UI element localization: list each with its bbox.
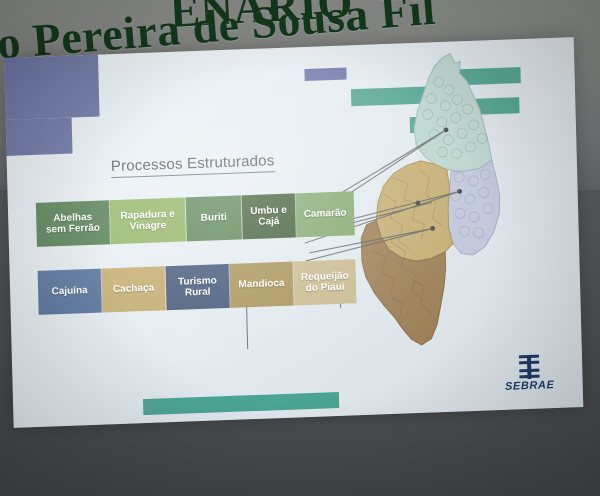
process-chip: Abelhas sem Ferrão: [36, 200, 111, 247]
sebrae-mark-icon: [516, 354, 543, 379]
projected-slide-area: Processos Estruturados Abelhas sem Ferrã…: [4, 37, 594, 446]
presentation-slide: Processos Estruturados Abelhas sem Ferrã…: [4, 37, 583, 428]
process-chip: Cajuína: [38, 269, 103, 315]
process-chip: Cachaça: [102, 266, 167, 312]
sebrae-logo: SEBRAE: [498, 354, 561, 390]
process-chip: Requeijão do Piauí: [293, 259, 356, 305]
slide-title: Processos Estruturados: [111, 152, 275, 178]
decoration-block-teal-bottom: [143, 392, 339, 415]
process-row-blue-tan: CajuínaCachaçaTurismo RuralMandiocaReque…: [38, 259, 357, 315]
process-chip: Buriti: [186, 195, 243, 241]
map-piaui: [356, 48, 555, 385]
process-chip: Mandioca: [229, 262, 294, 308]
decoration-block-blue-large: [4, 55, 100, 121]
sebrae-wordmark: SEBRAE: [499, 379, 561, 393]
decoration-block-blue-step: [4, 118, 73, 157]
process-chip-label: Abelhas sem Ferrão: [42, 211, 104, 236]
process-chip-label: Cajuína: [51, 285, 87, 298]
photo-scene: ENÁRIO io Pereira de Sousa Fil: [0, 0, 600, 496]
process-chip-label: Umbu e Cajá: [248, 204, 290, 228]
process-chip-label: Cachaça: [113, 283, 154, 296]
decoration-block-blue-small: [304, 67, 346, 81]
process-chip-label: Mandioca: [238, 278, 284, 291]
process-chip-label: Turismo Rural: [172, 275, 224, 300]
process-chip: Umbu e Cajá: [242, 193, 297, 239]
process-chip: Camarão: [296, 191, 355, 237]
process-chip-label: Rapadura e Vinagre: [116, 208, 180, 233]
process-chip-label: Requeijão do Piauí: [300, 270, 351, 295]
process-row-green: Abelhas sem FerrãoRapadura e VinagreBuri…: [36, 191, 355, 247]
process-chip: Rapadura e Vinagre: [110, 197, 187, 244]
process-chip-label: Buriti: [201, 212, 227, 224]
process-chip: Turismo Rural: [165, 264, 230, 310]
process-chip-label: Camarão: [304, 208, 347, 221]
